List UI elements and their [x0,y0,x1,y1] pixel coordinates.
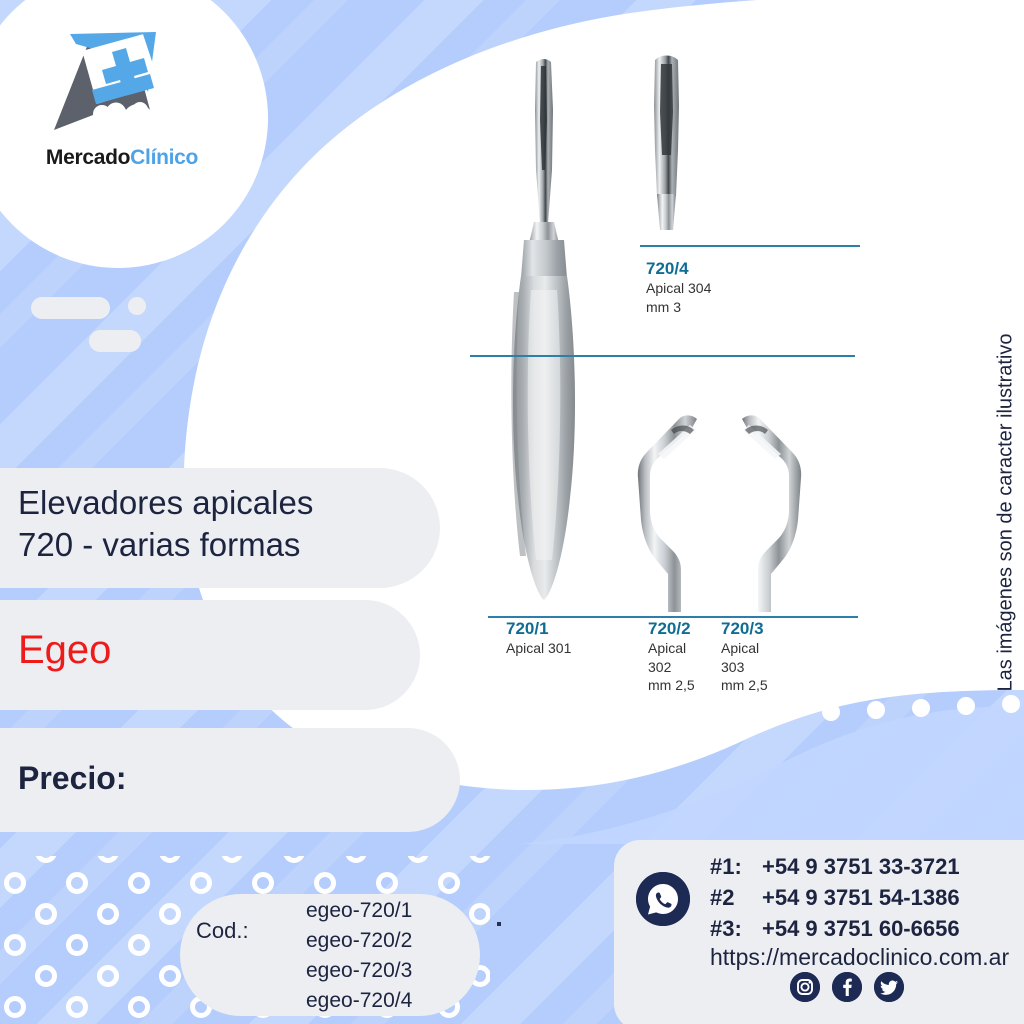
phone-tag: #2 [710,882,762,913]
whatsapp-icon[interactable] [636,872,690,926]
phone-number: +54 9 3751 54-1386 [762,882,960,913]
codes-list: egeo-720/1 egeo-720/2 egeo-720/3 egeo-72… [306,896,412,1016]
figure-label-720-4: 720/4 Apical 304 mm 3 [646,258,711,316]
figure-label-720-3: 720/3 Apical 303 mm 2,5 [721,618,768,695]
phone-list: #1: +54 9 3751 33-3721 #2 +54 9 3751 54-… [710,851,960,945]
figure-desc-line2: mm 3 [646,298,711,317]
phone-tag: #1: [710,851,762,882]
shopping-cart-medical-cross-logo-icon [40,18,200,146]
figure-desc-line1: Apical 301 [506,639,571,658]
figure-desc-line2: 302 [648,658,695,677]
phone-row[interactable]: #3: +54 9 3751 60-6656 [710,913,960,944]
logo-word-mercado: Mercado [46,146,130,169]
page-title: Elevadores apicales 720 - varias formas [18,482,438,565]
phone-row[interactable]: #1: +54 9 3751 33-3721 [710,851,960,882]
figure-desc-line3: mm 2,5 [721,676,768,695]
artifact-dot [497,922,501,926]
social-links [790,972,904,1002]
instagram-icon[interactable] [790,972,820,1002]
website-link[interactable]: https://mercadoclinico.com.ar [710,944,1009,971]
codes-label: Cod.: [196,918,249,944]
list-item: egeo-720/1 [306,896,412,926]
list-item: egeo-720/4 [306,986,412,1016]
product-figure: 720/4 Apical 304 mm 3 720/1 Apical 301 7… [440,20,860,720]
phone-number: +54 9 3751 33-3721 [762,851,960,882]
twitter-icon[interactable] [874,972,904,1002]
figure-desc-line1: Apical [721,639,768,658]
maker-name: Egeo [18,630,111,670]
figure-desc-line1: Apical [648,639,695,658]
figure-code: 720/4 [646,258,711,279]
figure-label-720-1: 720/1 Apical 301 [506,618,571,658]
figure-desc-line1: Apical 304 [646,279,711,298]
figure-desc-line3: mm 2,5 [648,676,695,695]
poster-canvas: MercadoClínico Las imágenes son de carac… [0,0,1024,1024]
phone-row[interactable]: #2 +54 9 3751 54-1386 [710,882,960,913]
figure-label-720-2: 720/2 Apical 302 mm 2,5 [648,618,695,695]
figure-code: 720/1 [506,618,571,639]
title-line-1: Elevadores apicales [18,482,438,524]
figure-desc-line2: 303 [721,658,768,677]
phone-number: +54 9 3751 60-6656 [762,913,960,944]
price-label: Precio: [18,762,126,794]
figure-code: 720/2 [648,618,695,639]
title-line-2: 720 - varias formas [18,524,438,566]
disclaimer-text: Las imágenes son de caracter ilustrativo [995,333,1018,691]
logo-word-clinico: Clínico [130,146,198,169]
phone-tag: #3: [710,913,762,944]
list-item: egeo-720/2 [306,926,412,956]
facebook-icon[interactable] [832,972,862,1002]
logo-wordmark: MercadoClínico [30,146,214,170]
brand-logo[interactable]: MercadoClínico [22,18,214,188]
figure-code: 720/3 [721,618,768,639]
list-item: egeo-720/3 [306,956,412,986]
